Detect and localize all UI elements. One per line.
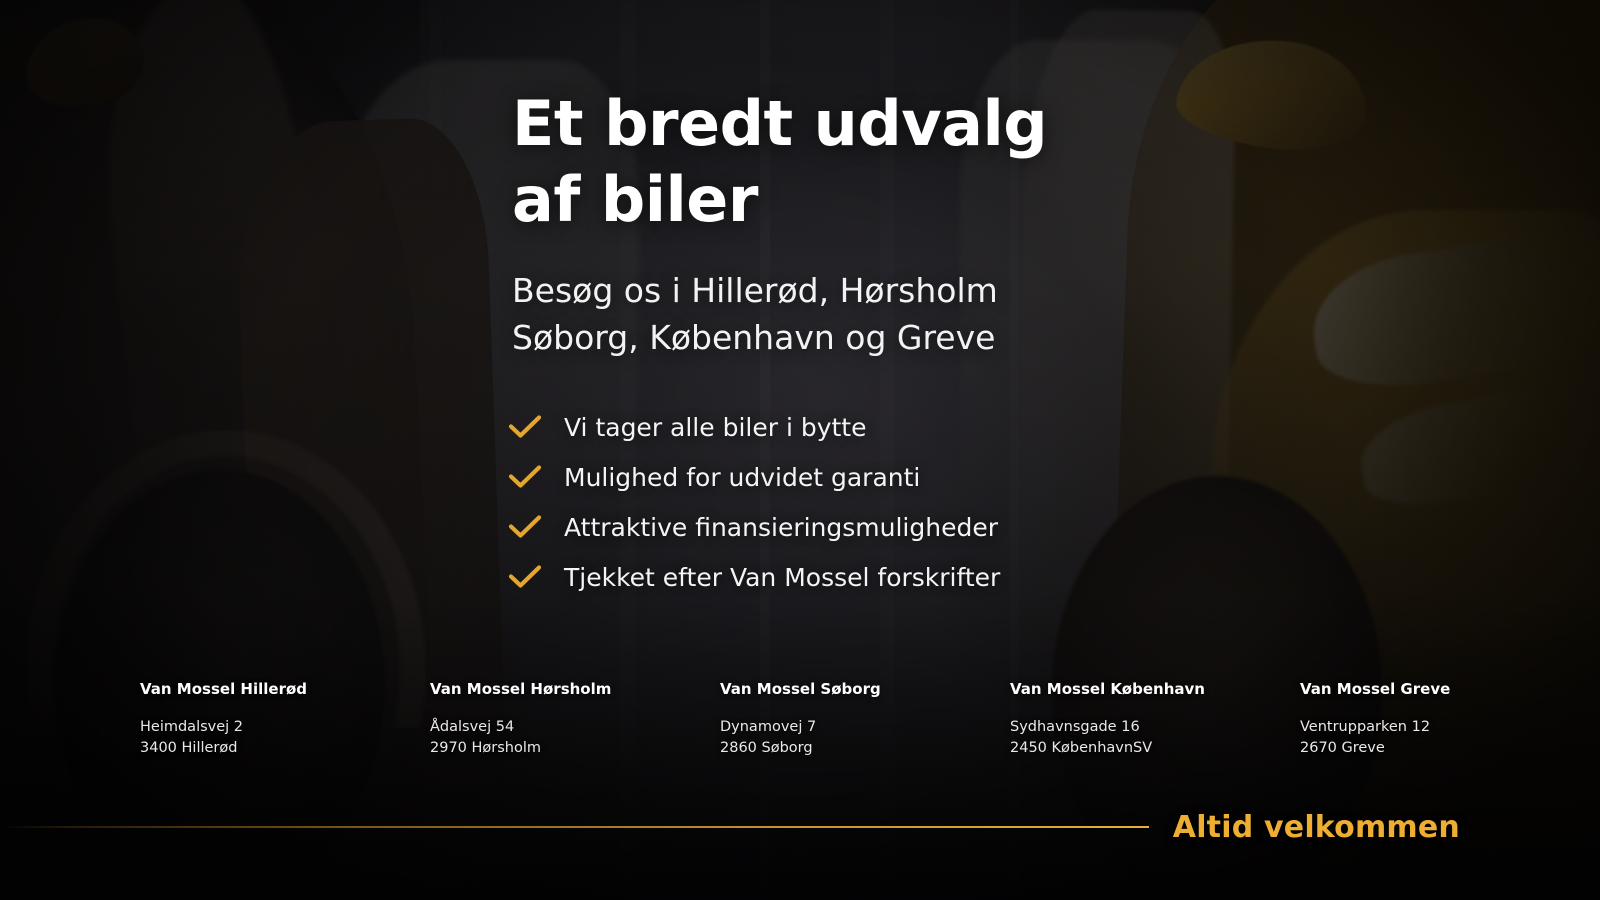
feature-label: Vi tager alle biler i bytte (564, 413, 867, 442)
dealer-city: 2450 KøbenhavnSV (1010, 740, 1152, 756)
headline-line-1: Et bredt udvalg (512, 87, 1047, 160)
dealer-locations: Van Mossel Hillerød Heimdalsvej 2 3400 H… (140, 680, 1470, 759)
feature-label: Attraktive finansieringsmuligheder (564, 513, 998, 542)
feature-list: Vi tager alle biler i bytte Mulighed for… (508, 402, 1000, 602)
dealer-address: Sydhavnsgade 16 2450 KøbenhavnSV (1010, 717, 1300, 759)
divider (0, 826, 1149, 828)
dealer-street: Sydhavnsgade 16 (1010, 719, 1140, 735)
footer-bar: Altid velkommen (0, 800, 1600, 854)
list-item: Attraktive finansieringsmuligheder (508, 502, 1000, 552)
dealer-address: Heimdalsvej 2 3400 Hillerød (140, 717, 430, 759)
dealer-street: Ventrupparken 12 (1300, 719, 1430, 735)
page-subtitle: Besøg os i Hillerød, Hørsholm Søborg, Kø… (512, 268, 1152, 362)
hero-banner: Et bredt udvalg af biler Besøg os i Hill… (0, 0, 1600, 900)
dealer-name: Van Mossel Greve (1300, 680, 1450, 698)
check-icon (508, 513, 542, 541)
feature-label: Mulighed for udvidet garanti (564, 463, 920, 492)
dealer-name: Van Mossel København (1010, 680, 1300, 698)
feature-label: Tjekket efter Van Mossel forskrifter (564, 563, 1000, 592)
check-icon (508, 413, 542, 441)
dealer-address: Ådalsvej 54 2970 Hørsholm (430, 717, 720, 759)
subhead-line-1: Besøg os i Hillerød, Hørsholm (512, 271, 998, 310)
headline-line-2: af biler (512, 163, 758, 236)
dealer-card[interactable]: Van Mossel København Sydhavnsgade 16 245… (1010, 680, 1300, 759)
dealer-city: 3400 Hillerød (140, 740, 237, 756)
dealer-city: 2970 Hørsholm (430, 740, 541, 756)
page-title: Et bredt udvalg af biler (512, 86, 1152, 237)
dealer-card[interactable]: Van Mossel Greve Ventrupparken 12 2670 G… (1300, 680, 1450, 759)
dealer-street: Ådalsvej 54 (430, 719, 514, 735)
dealer-name: Van Mossel Hørsholm (430, 680, 720, 698)
dealer-card[interactable]: Van Mossel Søborg Dynamovej 7 2860 Søbor… (720, 680, 1010, 759)
list-item: Vi tager alle biler i bytte (508, 402, 1000, 452)
dealer-street: Dynamovej 7 (720, 719, 816, 735)
brand-tagline: Altid velkommen (1173, 810, 1460, 845)
list-item: Mulighed for udvidet garanti (508, 452, 1000, 502)
dealer-city: 2860 Søborg (720, 740, 813, 756)
dealer-card[interactable]: Van Mossel Hillerød Heimdalsvej 2 3400 H… (140, 680, 430, 759)
hero-content: Et bredt udvalg af biler Besøg os i Hill… (0, 0, 1600, 900)
subhead-line-2: Søborg, København og Greve (512, 318, 995, 357)
dealer-street: Heimdalsvej 2 (140, 719, 243, 735)
dealer-name: Van Mossel Søborg (720, 680, 1010, 698)
dealer-address: Ventrupparken 12 2670 Greve (1300, 717, 1450, 759)
list-item: Tjekket efter Van Mossel forskrifter (508, 552, 1000, 602)
check-icon (508, 563, 542, 591)
dealer-address: Dynamovej 7 2860 Søborg (720, 717, 1010, 759)
dealer-name: Van Mossel Hillerød (140, 680, 430, 698)
dealer-city: 2670 Greve (1300, 740, 1385, 756)
dealer-card[interactable]: Van Mossel Hørsholm Ådalsvej 54 2970 Hør… (430, 680, 720, 759)
check-icon (508, 463, 542, 491)
